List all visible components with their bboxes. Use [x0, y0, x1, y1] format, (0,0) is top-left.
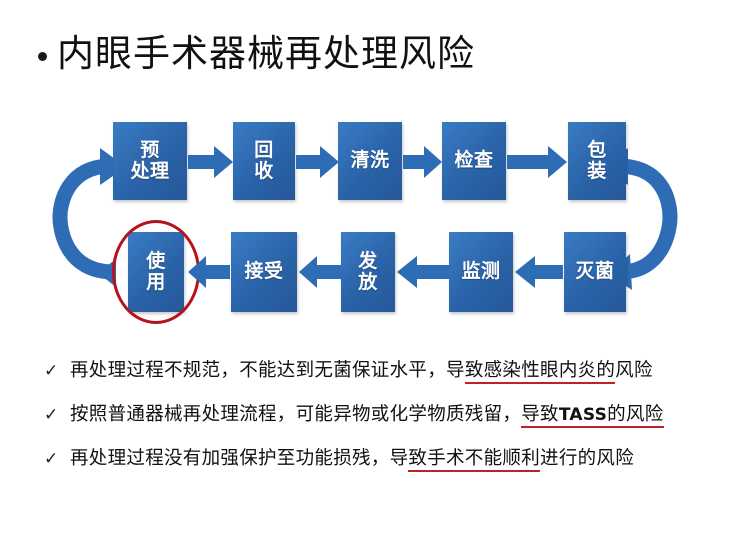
flow-node-pretreatment[interactable]: 预 处理 [113, 122, 187, 200]
list-item-text: 再处理过程不规范，不能达到无菌保证水平，导致感染性眼内炎的风险 [70, 358, 653, 384]
flow-node-cleaning[interactable]: 清洗 [338, 122, 402, 200]
arrow-right-icon [188, 145, 234, 179]
text-segment: 进行的风险 [540, 449, 634, 469]
check-icon: ✓ [44, 358, 70, 384]
text-segment-tass: TASS [559, 405, 607, 428]
flow-node-use[interactable]: 使 用 [128, 232, 184, 312]
risk-bullet-list: ✓ 再处理过程不规范，不能达到无菌保证水平，导致感染性眼内炎的风险 ✓ 按照普通… [44, 358, 716, 490]
flow-node-receive[interactable]: 接受 [231, 232, 297, 312]
flow-node-label: 回 收 [254, 140, 274, 183]
list-item-text: 按照普通器械再处理流程，可能异物或化学物质残留，导致TASS的风险 [70, 402, 664, 428]
arrow-left-icon [188, 255, 230, 289]
arrow-left-icon [515, 255, 563, 289]
list-item: ✓ 按照普通器械再处理流程，可能异物或化学物质残留，导致TASS的风险 [44, 402, 716, 446]
text-segment: 风险 [615, 361, 653, 381]
text-segment: 再处理过程没有加强保护至功能损残，导 [70, 449, 408, 469]
text-segment-underlined: 致感染性眼内炎的 [465, 361, 615, 384]
reprocessing-flow-diagram: 预 处理 回 收 清洗 检查 包 装 [0, 100, 730, 335]
flow-node-inspection[interactable]: 检查 [442, 122, 506, 200]
arrow-right-icon [507, 145, 569, 179]
flow-node-label: 接受 [244, 261, 283, 282]
text-segment: 再处理过程不规范，不能达到无菌保证水平，导 [70, 361, 465, 381]
flow-node-label: 清洗 [350, 150, 389, 171]
flow-node-label: 灭菌 [575, 261, 614, 282]
flow-node-label: 预 处理 [130, 140, 169, 183]
flow-node-packaging[interactable]: 包 装 [568, 122, 626, 200]
text-segment-underlined: 的风险 [607, 405, 663, 428]
flow-node-recycle[interactable]: 回 收 [233, 122, 295, 200]
slide-canvas: 内眼手术器械再处理风险 预 处理 回 收 清洗 [0, 0, 730, 544]
check-icon: ✓ [44, 446, 70, 472]
arrow-right-icon [296, 145, 340, 179]
flow-node-distribute[interactable]: 发 放 [341, 232, 395, 312]
list-item-text: 再处理过程没有加强保护至功能损残，导致手术不能顺利进行的风险 [70, 446, 634, 472]
title-bullet-icon [38, 52, 47, 61]
flow-node-label: 检查 [454, 150, 493, 171]
text-segment: 按照普通器械再处理流程，可能异物或化学物质残留， [70, 405, 521, 425]
flow-node-label: 包 装 [587, 140, 607, 183]
flow-node-label: 发 放 [358, 251, 378, 294]
flow-node-monitor[interactable]: 监测 [449, 232, 513, 312]
text-segment-underlined: 致手术不能顺利 [408, 449, 540, 472]
flow-node-label: 监测 [461, 261, 500, 282]
list-item: ✓ 再处理过程没有加强保护至功能损残，导致手术不能顺利进行的风险 [44, 446, 716, 490]
flow-node-label: 使 用 [146, 251, 166, 294]
curved-arrow-up-icon [48, 122, 122, 312]
check-icon: ✓ [44, 402, 70, 428]
page-title: 内眼手术器械再处理风险 [38, 36, 475, 73]
arrow-left-icon [397, 255, 449, 289]
page-title-text: 内眼手术器械再处理风险 [57, 36, 475, 73]
arrow-right-icon [403, 145, 443, 179]
list-item: ✓ 再处理过程不规范，不能达到无菌保证水平，导致感染性眼内炎的风险 [44, 358, 716, 402]
flow-node-sterilize[interactable]: 灭菌 [564, 232, 626, 312]
text-segment-underlined: 导致 [521, 405, 559, 428]
arrow-left-icon [299, 255, 341, 289]
